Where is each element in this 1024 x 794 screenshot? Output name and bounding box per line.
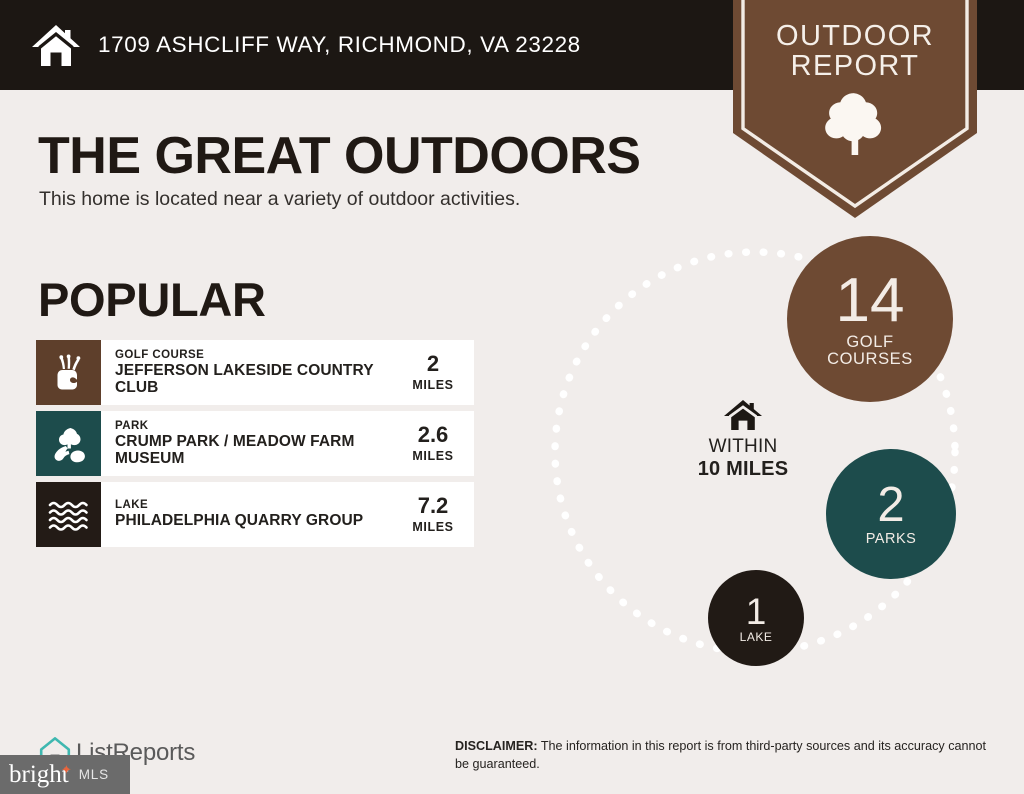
within-line-1: WITHIN (673, 436, 813, 458)
list-item-name: PHILADELPHIA QUARRY GROUP (115, 512, 363, 529)
stat-circle-parks[interactable]: 2 PARKS (826, 449, 956, 579)
disclaimer-label: DISCLAIMER: (455, 739, 538, 753)
list-item[interactable]: PARK CRUMP PARK / MEADOW FARM MUSEUM 2.6… (36, 411, 474, 476)
list-item-text: PARK CRUMP PARK / MEADOW FARM MUSEUM (101, 411, 396, 476)
list-item-text: LAKE PHILADELPHIA QUARRY GROUP (101, 482, 396, 547)
distance-value: 2.6 (418, 424, 449, 446)
list-item-distance: 2 MILES (396, 340, 474, 405)
stat-value: 14 (836, 270, 905, 332)
property-address: 1709 ASHCLIFF WAY, RICHMOND, VA 23228 (98, 32, 581, 58)
park-tree-icon (36, 411, 101, 476)
section-title-popular: POPULAR (38, 272, 266, 327)
page-subtitle: This home is located near a variety of o… (39, 188, 520, 211)
star-icon: ✦ (61, 763, 72, 776)
stat-circle-golf-courses[interactable]: 14 GOLF COURSES (787, 236, 953, 402)
stat-label-line-1: GOLF (846, 333, 893, 351)
stat-label: PARKS (866, 532, 917, 547)
page-title: THE GREAT OUTDOORS (38, 126, 640, 186)
watermark-brand: bright ✦ (9, 762, 69, 787)
disclaimer: DISCLAIMER: The information in this repo… (455, 738, 1000, 774)
home-icon (30, 19, 82, 71)
list-item-name: CRUMP PARK / MEADOW FARM MUSEUM (115, 433, 390, 468)
stat-value: 1 (746, 593, 767, 630)
bright-mls-watermark: bright ✦ MLS (0, 755, 130, 794)
stat-label: LAKE (740, 631, 773, 644)
golf-bag-icon (36, 340, 101, 405)
stat-value: 2 (877, 481, 904, 530)
outdoor-report-page: 1709 ASHCLIFF WAY, RICHMOND, VA 23228 OU… (0, 0, 1024, 794)
list-item-text: GOLF COURSE JEFFERSON LAKESIDE COUNTRY C… (101, 340, 396, 405)
distance-unit: MILES (412, 520, 453, 534)
list-item-category: LAKE (115, 499, 363, 512)
watermark-sub: MLS (79, 767, 109, 782)
list-item-distance: 2.6 MILES (396, 411, 474, 476)
list-item-category: GOLF COURSE (115, 349, 390, 362)
stat-circle-lake[interactable]: 1 LAKE (708, 570, 804, 666)
within-line-2: 10 MILES (673, 458, 813, 481)
waves-icon (36, 482, 101, 547)
distance-value: 7.2 (418, 495, 449, 517)
list-item[interactable]: LAKE PHILADELPHIA QUARRY GROUP 7.2 MILES (36, 482, 474, 547)
stat-label-line-2: COURSES (827, 350, 913, 368)
distance-unit: MILES (412, 449, 453, 463)
list-item[interactable]: GOLF COURSE JEFFERSON LAKESIDE COUNTRY C… (36, 340, 474, 405)
within-radius-label: WITHIN 10 MILES (673, 398, 813, 481)
outdoor-report-badge: OUTDOOR REPORT (733, 0, 977, 218)
distance-value: 2 (427, 353, 439, 375)
list-item-distance: 7.2 MILES (396, 482, 474, 547)
stat-label: GOLF COURSES (827, 334, 913, 369)
distance-unit: MILES (412, 378, 453, 392)
watermark-brand-text: bright (9, 761, 69, 788)
popular-list: GOLF COURSE JEFFERSON LAKESIDE COUNTRY C… (36, 340, 474, 553)
list-item-category: PARK (115, 420, 390, 433)
list-item-name: JEFFERSON LAKESIDE COUNTRY CLUB (115, 362, 390, 397)
home-icon (673, 398, 813, 432)
